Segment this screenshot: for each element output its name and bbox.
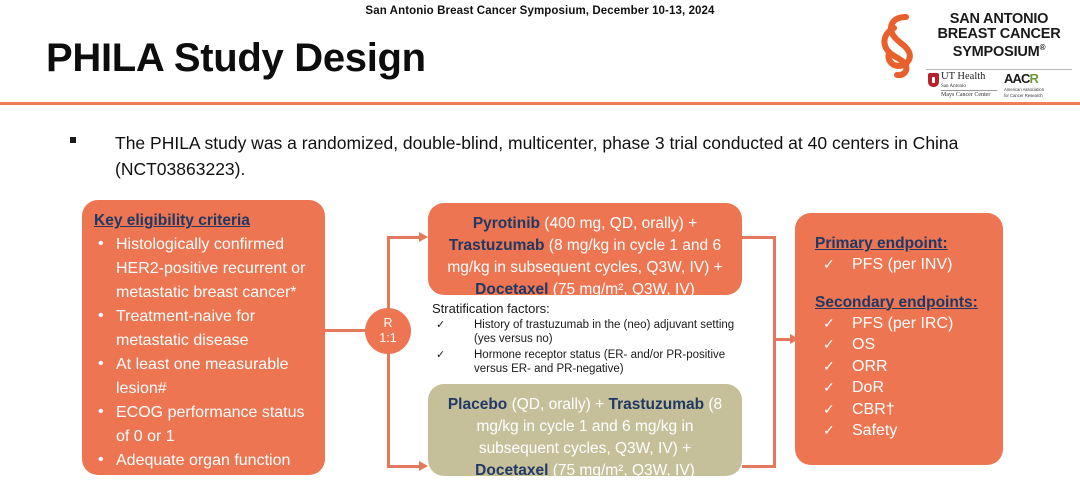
sabcs-logo-line1: SAN ANTONIO	[926, 12, 1072, 27]
aacr-main: AACR	[1004, 72, 1044, 85]
stratification-list: ✓History of trastuzumab in the (neo) adj…	[432, 318, 752, 376]
aacr-logo: AACR American Association for Cancer Res…	[1004, 72, 1044, 98]
connector-random-to-arm2	[387, 465, 421, 468]
ut-health-sub2: Mays Cancer Center	[941, 92, 997, 98]
ut-health-rule	[941, 90, 997, 91]
randomization-ratio: 1:1	[365, 331, 411, 346]
connector-merge-vertical	[773, 236, 776, 468]
logo-divider	[926, 69, 1072, 70]
sabcs-logo-line2: BREAST CANCER	[926, 27, 1072, 42]
list-item: ✓History of trastuzumab in the (neo) adj…	[432, 318, 752, 346]
list-item: ✓OS	[815, 334, 1003, 356]
sabcs-logo: SAN ANTONIO BREAST CANCER SYMPOSIUM® UT …	[876, 12, 1072, 98]
list-item: ✓PFS (per IRC)	[815, 313, 1003, 335]
arrow-head-endpoints-icon	[790, 334, 799, 344]
header-divider	[0, 102, 1080, 105]
list-item: ✓ORR	[815, 356, 1003, 378]
ut-health-main: UT Health	[941, 72, 997, 83]
randomization-label: R	[365, 316, 411, 331]
list-item: At least one measurable lesion#	[94, 353, 313, 401]
arrow-head-arm2-icon	[419, 461, 428, 471]
check-icon: ✓	[823, 254, 835, 276]
endpoints-spacer	[815, 276, 1003, 292]
drug-name: Trastuzumab	[608, 396, 704, 413]
connector-elig-to-random	[325, 329, 365, 332]
drug-dose: (75 mg/m², Q3W, IV)	[548, 281, 694, 298]
secondary-endpoint-list: ✓PFS (per IRC) ✓OS ✓ORR ✓DoR ✓CBR† ✓Safe…	[815, 313, 1003, 442]
list-item: Treatment-naive for metastatic disease	[94, 305, 313, 353]
check-icon: ✓	[823, 313, 835, 335]
drug-name: Placebo	[448, 396, 507, 413]
pyrotinib-arm-text: Pyrotinib (400 mg, QD, orally) + Trastuz…	[442, 213, 728, 301]
sabcs-logo-line3: SYMPOSIUM®	[926, 41, 1072, 59]
list-item: ✓PFS (per INV)	[815, 254, 1003, 276]
drug-name: Pyrotinib	[473, 215, 540, 232]
connector-arm2-out	[742, 465, 776, 468]
partner-logos: UT Health San Antonio Mays Cancer Center…	[928, 72, 1074, 98]
stratification-title: Stratification factors:	[432, 300, 752, 317]
square-bullet-icon	[70, 137, 76, 143]
connector-random-to-arm1	[387, 236, 421, 239]
intro-bullet: The PHILA study was a randomized, double…	[70, 130, 1000, 182]
list-item: Histologically confirmed HER2-positive r…	[94, 233, 313, 305]
sabcs-logo-text: SAN ANTONIO BREAST CANCER SYMPOSIUM®	[926, 12, 1072, 59]
stratification-factors: Stratification factors: ✓History of tras…	[432, 300, 752, 378]
list-item: ✓Safety	[815, 420, 1003, 442]
list-item: ECOG performance status of 0 or 1	[94, 401, 313, 449]
drug-name: Docetaxel	[475, 281, 548, 298]
placebo-arm-text: Placebo (QD, orally) + Trastuzumab (8 mg…	[442, 394, 728, 482]
check-icon: ✓	[823, 399, 835, 421]
ut-health-logo: UT Health San Antonio Mays Cancer Center	[928, 72, 997, 98]
eligibility-heading: Key eligibility criteria	[94, 211, 313, 231]
drug-dose: (75 mg/m², Q3W, IV)	[548, 462, 694, 479]
check-icon: ✓	[823, 334, 835, 356]
slide-canvas: San Antonio Breast Cancer Symposium, Dec…	[0, 0, 1080, 503]
list-item: ✓DoR	[815, 377, 1003, 399]
placebo-arm-box: Placebo (QD, orally) + Trastuzumab (8 mg…	[428, 384, 742, 476]
check-icon: ✓	[823, 420, 835, 442]
primary-endpoint-heading: Primary endpoint:	[815, 233, 1003, 254]
check-icon: ✓	[436, 348, 445, 362]
check-icon: ✓	[823, 356, 835, 378]
ut-shield-icon	[928, 73, 939, 87]
primary-endpoint-list: ✓PFS (per INV)	[815, 254, 1003, 276]
check-icon: ✓	[823, 377, 835, 399]
list-item: ✓Hormone receptor status (ER- and/or PR-…	[432, 348, 752, 376]
sabcs-ribbon-icon	[876, 14, 922, 78]
endpoints-box: Primary endpoint: ✓PFS (per INV) Seconda…	[795, 213, 1003, 465]
drug-name: Trastuzumab	[449, 237, 545, 254]
pyrotinib-arm-box: Pyrotinib (400 mg, QD, orally) + Trastuz…	[428, 203, 742, 295]
secondary-endpoint-heading: Secondary endpoints:	[815, 292, 1003, 313]
aacr-sub-line2: for Cancer Research	[1004, 93, 1044, 98]
list-item: ✓CBR†	[815, 399, 1003, 421]
intro-text: The PHILA study was a randomized, double…	[115, 130, 1000, 182]
arrow-head-arm1-icon	[419, 232, 428, 242]
drug-dose: (400 mg, QD, orally) +	[540, 215, 697, 232]
connector-arm1-out	[742, 236, 776, 239]
eligibility-criteria-box: Key eligibility criteria Histologically …	[82, 200, 325, 475]
ut-health-sub: San Antonio	[941, 84, 997, 89]
eligibility-list: Histologically confirmed HER2-positive r…	[94, 233, 313, 473]
list-item: Adequate organ function	[94, 449, 313, 473]
randomization-node: R 1:1	[365, 308, 411, 354]
check-icon: ✓	[436, 318, 445, 332]
page-title: PHILA Study Design	[46, 36, 426, 81]
drug-dose: (QD, orally) +	[507, 396, 604, 413]
drug-name: Docetaxel	[475, 462, 548, 479]
aacr-sub-line1: American Association	[1004, 87, 1044, 92]
